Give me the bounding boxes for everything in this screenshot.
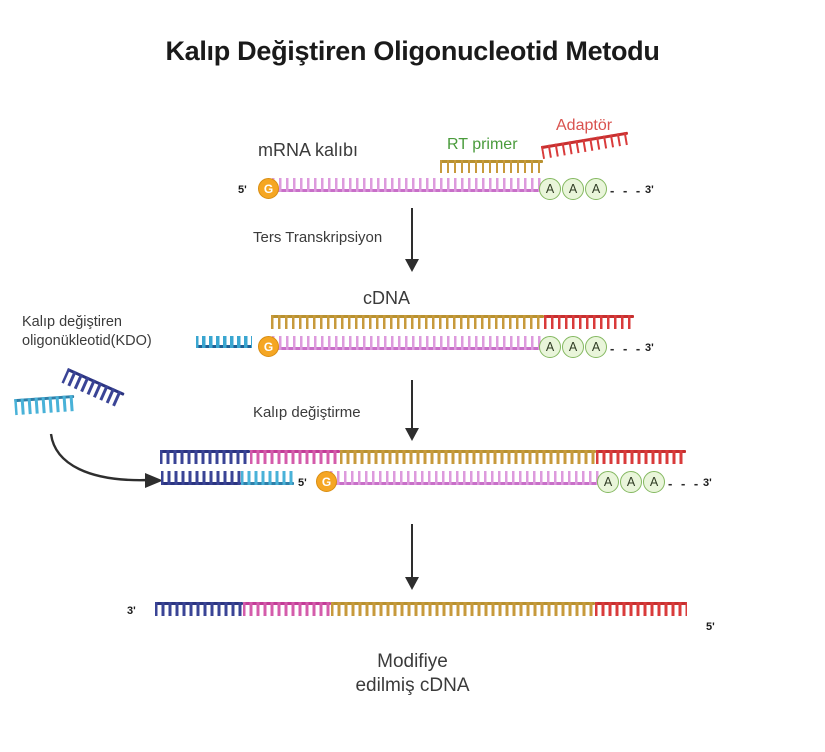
step-final-arrow (0, 520, 825, 590)
arrow-shaft (411, 208, 413, 261)
mrna-three-prime-tick: 3' (645, 184, 654, 196)
step-label: Ters Transkripsiyon (253, 229, 382, 248)
poly-a-dots: - - - (610, 183, 643, 198)
mrna-template-label: mRNA kalıbı (258, 139, 358, 162)
product-magenta-segment (243, 602, 331, 616)
kdo-label-line2: oligonükleotid(KDO) (22, 333, 152, 349)
a-circle: A (620, 471, 642, 493)
product-red-segment (595, 602, 687, 616)
cdna-label: cDNA (363, 287, 410, 310)
poly-a-dots: - - - (610, 341, 643, 356)
a-circle: A (585, 336, 607, 358)
cdna-three-prime-tick: 3' (645, 342, 654, 354)
complex-top-magenta-segment (250, 450, 340, 464)
a-circle: A (585, 178, 607, 200)
panel-modified-cdna: 3' 5' (0, 596, 825, 656)
arrow-shaft (411, 524, 413, 579)
rt-primer-label: RT primer (447, 135, 518, 155)
a-circle: A (562, 178, 584, 200)
kdo-small-strand (196, 336, 252, 348)
a-circle: A (643, 471, 665, 493)
mrna-strand (272, 178, 542, 192)
complex-top-navy-segment (160, 450, 250, 464)
arrow-head (405, 577, 419, 590)
cdna-strand (271, 315, 544, 329)
cdna-adapter-segment (544, 315, 634, 329)
figure-canvas: Kalıp Değiştiren Oligonucleotid Metodu m… (0, 0, 825, 752)
product-three-prime-tick: 3' (127, 605, 136, 617)
product-five-prime-tick: 5' (706, 621, 715, 633)
complex-bottom-cyan-segment (241, 471, 294, 485)
mrna-strand (272, 336, 542, 350)
arrow-head (405, 259, 419, 272)
complex-bottom-navy-segment (161, 471, 241, 485)
arrow-head (405, 428, 419, 441)
step-reverse-transcription: Ters Transkripsiyon (0, 215, 825, 280)
rt-primer-strand (440, 160, 543, 173)
step-template-switching: Kalıp değiştirme (0, 385, 825, 450)
complex-top-red-segment (596, 450, 686, 464)
mrna-strand (330, 471, 600, 485)
complex-three-prime-tick: 3' (703, 477, 712, 489)
arrow-shaft (411, 380, 413, 430)
a-circle: A (597, 471, 619, 493)
kdo-label: Kalıp değiştiren oligonükleotid(KDO) (22, 313, 152, 351)
complex-five-prime-tick: 5' (298, 477, 307, 489)
a-circle: A (539, 336, 561, 358)
g-cap-circle: G (258, 178, 279, 199)
step-label: Kalıp değiştirme (253, 404, 361, 423)
product-gold-segment (331, 602, 595, 616)
mrna-five-prime-tick: 5' (238, 184, 247, 196)
figure-caption: Modifiye edilmiş cDNA (0, 650, 825, 698)
panel-mrna-template: mRNA kalıbı RT primer Adaptör 5' G A A A… (0, 0, 825, 215)
g-cap-circle: G (316, 471, 337, 492)
product-navy-segment (155, 602, 243, 616)
a-circle: A (539, 178, 561, 200)
kdo-label-line1: Kalıp değiştiren (22, 314, 122, 330)
complex-top-gold-segment (340, 450, 596, 464)
caption-line1: Modifiye (0, 650, 825, 674)
poly-a-dots: - - - (668, 476, 701, 491)
panel-template-switch-complex: 5' G A A A - - - 3' (0, 445, 825, 515)
g-cap-circle: G (258, 336, 279, 357)
a-circle: A (562, 336, 584, 358)
adapter-label: Adaptör (556, 116, 612, 136)
caption-line2: edilmiş cDNA (0, 674, 825, 698)
